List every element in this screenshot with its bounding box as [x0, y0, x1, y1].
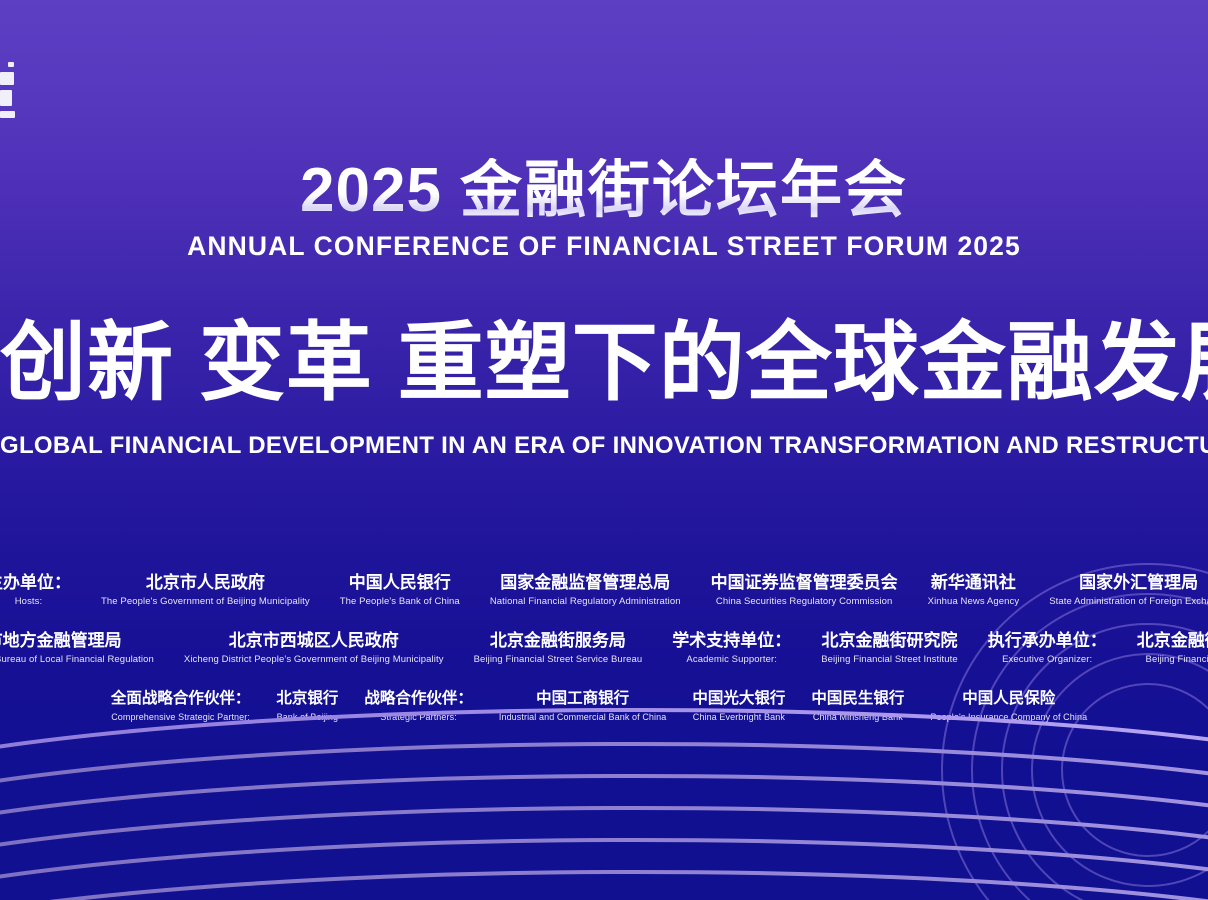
sponsor-name-en: Beijing Financial Street Service Center … [1137, 654, 1208, 665]
sponsor-name-cn: 中国人民银行 [340, 572, 460, 593]
sponsor-name-en: China Minsheng Bank [811, 712, 904, 723]
sponsor-item: 北京金融街服务局Beijing Financial Street Service… [474, 630, 643, 666]
sponsor-item: 北京市西城区人民政府Xicheng District People's Gove… [184, 630, 444, 666]
sponsor-item: 国家金融监督管理总局National Financial Regulatory … [490, 572, 681, 608]
sponsor-name-cn: 新华通讯社 [928, 572, 1020, 593]
sponsor-name-en: The People's Government of Beijing Munic… [101, 596, 310, 607]
sponsors-block: 主办单位：Hosts:北京市人民政府The People's Governmen… [0, 572, 1208, 722]
sponsor-name-en: China Securities Regulatory Commission [711, 596, 898, 607]
sponsor-name-en: National Financial Regulatory Administra… [490, 596, 681, 607]
sponsor-name-en: The People's Bank of China [340, 596, 460, 607]
sponsor-item: 中国工商银行Industrial and Commercial Bank of … [499, 689, 666, 722]
sponsor-item: 北京金融街研究院Beijing Financial Street Institu… [821, 630, 957, 666]
sponsor-name-en: China Everbright Bank [692, 712, 785, 723]
sponsor-name-cn: 北京银行 [276, 689, 338, 708]
sponsor-item: 北京银行Bank of Beijing [276, 689, 338, 722]
sponsor-name-cn: 战略合作伙伴： [364, 689, 473, 708]
sponsor-name-cn: 北京市人民政府 [101, 572, 310, 593]
sponsor-name-cn: 中国工商银行 [499, 689, 666, 708]
sponsor-name-en: Beijing Financial Street Institute [821, 654, 957, 665]
sponsor-name-en: Comprehensive Strategic Partner: [111, 712, 251, 723]
sponsor-item: 战略合作伙伴：Strategic Partners: [364, 689, 473, 722]
sponsor-item: 主办单位：Hosts: [0, 572, 71, 608]
sponsor-name-en: Xinhua News Agency [928, 596, 1020, 607]
sponsor-name-cn: 全面战略合作伙伴： [111, 689, 251, 708]
sponsor-name-cn: 北京市西城区人民政府 [184, 630, 444, 651]
sponsor-name-en: Beijing Municipal Bureau of Local Financ… [0, 654, 154, 665]
sponsor-item: 全面战略合作伙伴：Comprehensive Strategic Partner… [111, 689, 251, 722]
sponsor-item: 中国民生银行China Minsheng Bank [811, 689, 904, 722]
sponsor-name-cn: 学术支持单位： [672, 630, 791, 651]
sponsor-item: 中国人民保险People's Insurance Company of Chin… [930, 689, 1087, 722]
sponsor-name-cn: 国家外汇管理局 [1049, 572, 1208, 593]
sponsor-name-en: People's Insurance Company of China [930, 712, 1087, 723]
sponsor-item: 新华通讯社Xinhua News Agency [928, 572, 1020, 608]
sponsor-name-cn: 北京市地方金融管理局 [0, 630, 154, 651]
sponsor-item: 北京市人民政府The People's Government of Beijin… [101, 572, 310, 608]
sponsor-name-cn: 主办单位： [0, 572, 71, 593]
sponsor-item: 北京金融街服务中心有限公司Beijing Financial Street Se… [1137, 630, 1208, 666]
conference-title-cn-text: 金融街论坛年会 [460, 156, 908, 225]
headline-cn: 创新 变革 重塑下的全球金融发展 [0, 318, 1208, 409]
sponsor-name-cn: 中国光大银行 [692, 689, 785, 708]
sponsor-name-en: Xicheng District People's Government of … [184, 654, 444, 665]
sponsor-row-partners: 全面战略合作伙伴：Comprehensive Strategic Partner… [0, 689, 1208, 722]
sponsor-name-en: Strategic Partners: [364, 712, 473, 723]
sponsor-item: 中国光大银行China Everbright Bank [692, 689, 785, 722]
conference-banner: 2025金融街论坛年会 ANNUAL CONFERENCE OF FINANCI… [0, 0, 1208, 900]
headline-block: 创新 变革 重塑下的全球金融发展 [0, 318, 1208, 409]
sponsor-name-en: Industrial and Commercial Bank of China [499, 712, 666, 723]
sponsor-item: 北京市地方金融管理局Beijing Municipal Bureau of Lo… [0, 630, 154, 666]
sponsor-name-en: State Administration of Foreign Exchange [1049, 596, 1208, 607]
sponsor-item: 中国证券监督管理委员会China Securities Regulatory C… [711, 572, 898, 608]
conference-title-en: ANNUAL CONFERENCE OF FINANCIAL STREET FO… [0, 231, 1208, 262]
sponsor-name-cn: 中国人民保险 [930, 689, 1087, 708]
sponsor-row-organizers: 承办单位：Organizers：北京市地方金融管理局Beijing Munici… [0, 630, 1208, 666]
sponsor-name-cn: 北京金融街服务中心有限公司 [1137, 630, 1208, 651]
conference-year: 2025 [300, 156, 442, 225]
headline-en: GLOBAL FINANCIAL DEVELOPMENT IN AN ERA O… [0, 432, 1208, 460]
sponsor-item: 执行承办单位：Executive Organizer: [988, 630, 1107, 666]
sponsor-row-hosts: 主办单位：Hosts:北京市人民政府The People's Governmen… [6, 572, 1208, 608]
sponsor-name-en: Executive Organizer: [988, 654, 1107, 665]
sponsor-name-en: Hosts: [0, 596, 71, 607]
sponsor-item: 国家外汇管理局State Administration of Foreign E… [1049, 572, 1208, 608]
sponsor-name-cn: 执行承办单位： [988, 630, 1107, 651]
sponsor-name-cn: 国家金融监督管理总局 [490, 572, 681, 593]
sponsor-item: 学术支持单位：Academic Supporter: [672, 630, 791, 666]
sponsor-name-en: Bank of Beijing [276, 712, 338, 723]
conference-title-cn: 2025金融街论坛年会 [0, 158, 1208, 223]
sponsor-name-en: Beijing Financial Street Service Bureau [474, 654, 643, 665]
title-block: 2025金融街论坛年会 ANNUAL CONFERENCE OF FINANCI… [0, 158, 1208, 262]
sponsor-name-cn: 中国证券监督管理委员会 [711, 572, 898, 593]
sponsor-item: 中国人民银行The People's Bank of China [340, 572, 460, 608]
sponsor-name-cn: 北京金融街研究院 [821, 630, 957, 651]
corner-watermark-logo [0, 62, 26, 132]
sponsor-name-en: Academic Supporter: [672, 654, 791, 665]
sponsor-name-cn: 北京金融街服务局 [474, 630, 643, 651]
sponsor-name-cn: 中国民生银行 [811, 689, 904, 708]
